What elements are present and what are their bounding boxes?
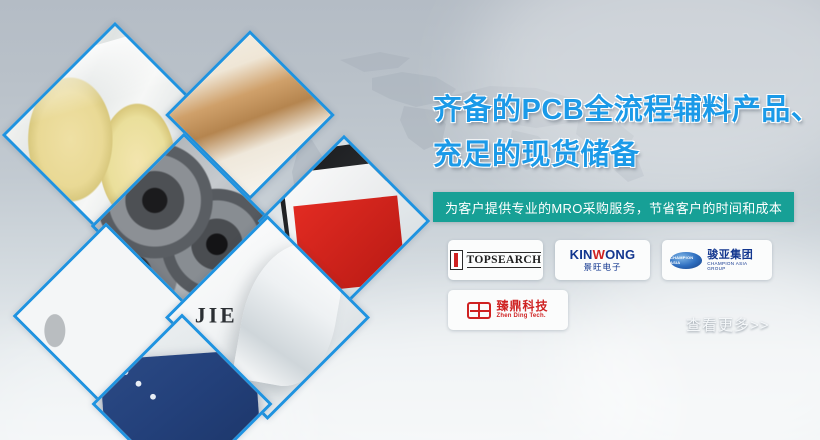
banner-subtitle-bar: 为客户提供专业的MRO采购服务，节省客户的时间和成本 xyxy=(433,192,794,222)
view-more-link[interactable]: 查看更多>> xyxy=(686,314,770,335)
client-logo-row-1: TOPSEARCH KINWONG 景旺电子 骏亚集团 CHAMPION ASI… xyxy=(448,240,808,280)
client-logo-champion-asia[interactable]: 骏亚集团 CHAMPION ASIA GROUP xyxy=(662,240,772,280)
kinwong-chinese-name: 景旺电子 xyxy=(570,263,636,272)
client-logo-topsearch[interactable]: TOPSEARCH xyxy=(448,240,543,280)
promo-banner: JIE 齐备的PCB全流程辅料产品、 充足的现货储备 为客户提供专业的MRO采购… xyxy=(0,0,820,440)
tile-caption-jie: JIE xyxy=(195,305,238,330)
client-logo-zhen-ding[interactable]: 臻鼎科技 Zhen Ding Tech. xyxy=(448,290,568,330)
zhen-ding-mark-icon xyxy=(467,302,491,319)
zhen-ding-english-name: Zhen Ding Tech. xyxy=(496,313,548,320)
topsearch-mark-icon xyxy=(450,250,463,270)
topsearch-wordmark: TOPSEARCH xyxy=(467,252,542,268)
champion-asia-chinese-name: 骏亚集团 xyxy=(707,249,764,261)
headline-line-1: 齐备的PCB全流程辅料产品、 xyxy=(433,94,820,126)
product-tile-group: JIE xyxy=(0,0,470,440)
zhen-ding-chinese-name: 臻鼎科技 xyxy=(496,300,548,313)
banner-headline: 齐备的PCB全流程辅料产品、 充足的现货储备 xyxy=(433,88,813,178)
headline-line-2: 充足的现货储备 xyxy=(433,133,813,178)
client-logo-kinwong[interactable]: KINWONG 景旺电子 xyxy=(555,240,650,280)
banner-subtitle-text: 为客户提供专业的MRO采购服务，节省客户的时间和成本 xyxy=(445,198,782,217)
champion-asia-english-name: CHAMPION ASIA GROUP xyxy=(707,261,764,271)
kinwong-wordmark: KINWONG xyxy=(570,248,636,262)
globe-icon xyxy=(670,252,702,269)
